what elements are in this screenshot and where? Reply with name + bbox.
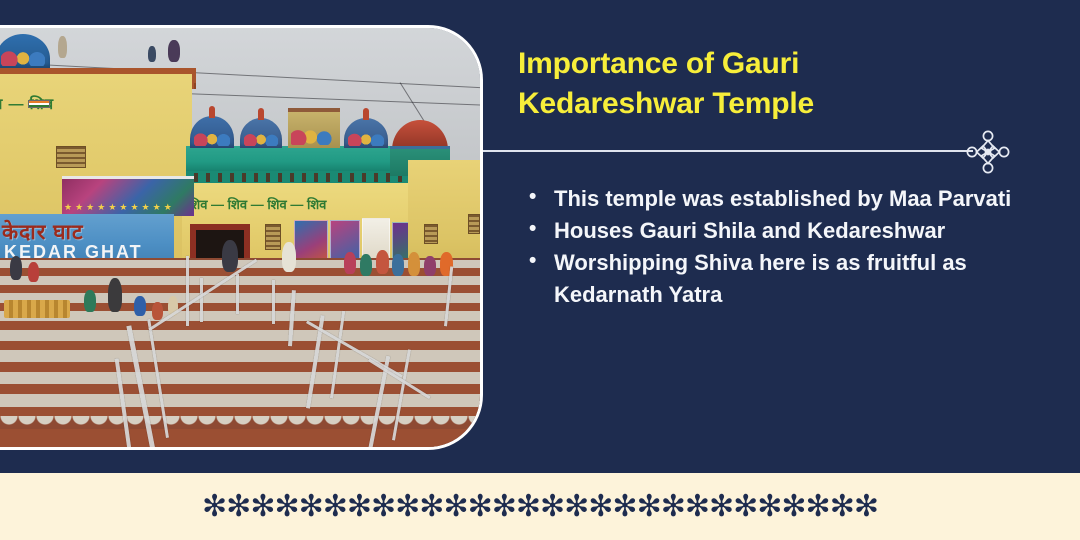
star-ornament-icon: ✻: [830, 492, 854, 522]
wall-text-center: शिव — शिव — शिव — शिव: [188, 196, 420, 212]
window-grille: [424, 224, 438, 244]
slide-canvas: व — शिव: [0, 0, 1080, 540]
step: [0, 293, 480, 303]
star-ornament-icon: ✻: [371, 492, 395, 522]
star-ornament-icon: ✻: [250, 492, 274, 522]
window-grille: [265, 224, 281, 250]
person-figure: [344, 252, 356, 274]
star-ornament-icon: ✻: [757, 492, 781, 522]
star-ornament-icon: ✻: [516, 492, 540, 522]
rooftop-figure: [168, 40, 180, 62]
stair-railing: [236, 274, 239, 314]
person-figure: [84, 290, 96, 312]
star-ornament-icon: ✻: [709, 492, 733, 522]
person-figure: [392, 254, 404, 276]
person-figure: [360, 254, 372, 276]
wall-poster: [294, 220, 328, 262]
star-ornament-icon: ✻: [443, 492, 467, 522]
stair-railing: [200, 278, 203, 322]
star-ornament-icon: ✻: [274, 492, 298, 522]
star-ornament-icon: ✻: [323, 492, 347, 522]
star-ornament-icon: ✻: [733, 492, 757, 522]
step-scallop-trim: [0, 416, 480, 429]
banner-stars: ★★★★★ ★★★★★: [64, 200, 192, 214]
star-ornament-icon: ✻: [806, 492, 830, 522]
flag-icon: [28, 100, 50, 108]
step: [0, 276, 480, 285]
window-grille: [56, 146, 86, 168]
person-figure: [376, 250, 389, 274]
bottom-decorative-band: ✻✻✻✻✻✻✻✻✻✻✻✻✻✻✻✻✻✻✻✻✻✻✻✻✻✻✻✻: [0, 473, 1080, 540]
person-figure: [28, 262, 39, 282]
rooftop-figure: [58, 36, 67, 58]
step: [0, 330, 480, 341]
step-riser: [0, 303, 480, 311]
divider-line: [483, 150, 973, 152]
star-ornament-icon: ✻: [588, 492, 612, 522]
star-ornament-icon: ✻: [347, 492, 371, 522]
festival-banner: ★★★★★ ★★★★★: [62, 176, 194, 216]
person-figure: [222, 240, 238, 272]
list-item: This temple was established by Maa Parva…: [522, 183, 1042, 214]
bullet-list: This temple was established by Maa Parva…: [522, 183, 1042, 311]
goods-display: [4, 300, 70, 318]
content-panel: Importance of Gauri Kedareshwar Temple: [518, 0, 1080, 473]
person-figure: [424, 256, 436, 276]
person-figure: [134, 296, 146, 316]
star-ornament-icon: ✻: [637, 492, 661, 522]
temple-roof: [186, 146, 404, 172]
person-figure: [408, 252, 420, 276]
star-ornament-icon: ✻: [781, 492, 805, 522]
step: [0, 311, 480, 321]
step: [0, 394, 480, 407]
step-riser: [0, 429, 480, 447]
star-ornament-icon: ✻: [226, 492, 250, 522]
star-ornament-icon: ✻: [564, 492, 588, 522]
star-ornament-row: ✻✻✻✻✻✻✻✻✻✻✻✻✻✻✻✻✻✻✻✻✻✻✻✻✻✻✻✻: [0, 473, 1080, 540]
wall-text-center-label: शिव — शिव — शिव — शिव: [188, 195, 326, 213]
photo-area: व — शिव: [0, 0, 500, 473]
rooftop-figure: [148, 46, 156, 62]
star-ornament-icon: ✻: [540, 492, 564, 522]
star-ornament-icon: ✻: [492, 492, 516, 522]
star-ornament-icon: ✻: [468, 492, 492, 522]
list-item: Houses Gauri Shila and Kedareshwar: [522, 215, 1042, 246]
list-item: Worshipping Shiva here is as fruitful as…: [522, 247, 1042, 309]
star-ornament-icon: ✻: [395, 492, 419, 522]
person-figure: [10, 256, 22, 280]
star-ornament-icon: ✻: [685, 492, 709, 522]
stair-railing: [186, 256, 189, 326]
star-ornament-icon: ✻: [854, 492, 878, 522]
person-figure: [108, 278, 122, 312]
diamond-knot-ornament-icon: [965, 129, 1011, 175]
window-grille: [468, 214, 480, 234]
star-ornament-icon: ✻: [612, 492, 636, 522]
step-riser: [0, 285, 480, 293]
page-title: Importance of Gauri Kedareshwar Temple: [518, 44, 988, 123]
person-figure: [282, 242, 296, 272]
star-ornament-icon: ✻: [202, 492, 226, 522]
star-ornament-icon: ✻: [299, 492, 323, 522]
person-figure: [152, 302, 163, 320]
stair-railing: [272, 280, 275, 324]
temple-photo: व — शिव: [0, 28, 480, 447]
step-riser: [0, 321, 480, 330]
star-ornament-icon: ✻: [419, 492, 443, 522]
star-ornament-icon: ✻: [661, 492, 685, 522]
gopuram-shrine-box: [288, 108, 340, 148]
